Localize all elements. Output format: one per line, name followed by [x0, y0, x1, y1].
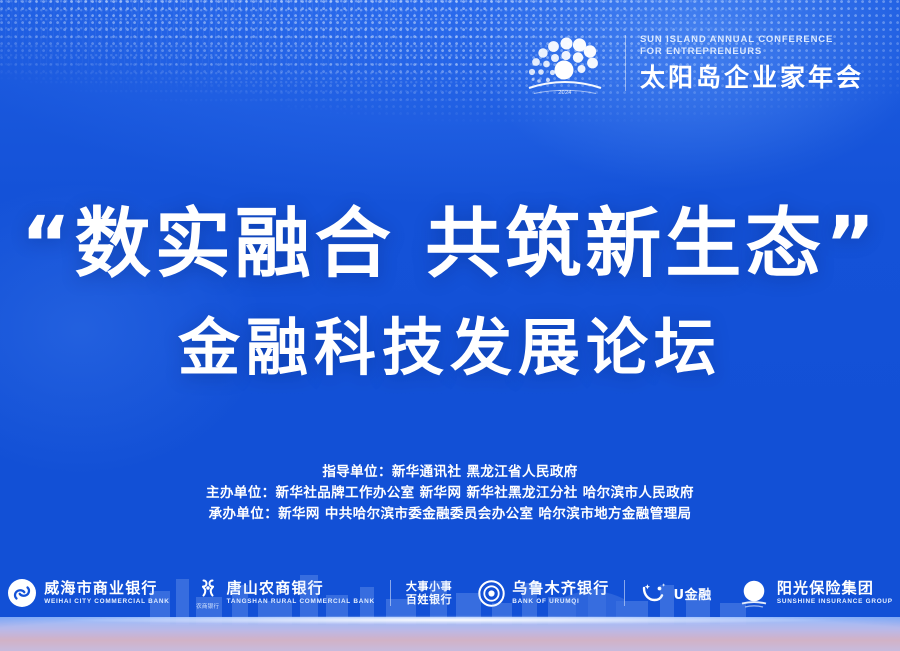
sunshine-sun-icon [738, 578, 770, 608]
tangshan-mark-label: 农商银行 [196, 602, 219, 610]
sponsor-divider [390, 580, 391, 606]
sponsor-divider [624, 580, 625, 606]
sponsor-name-cn: 威海市商业银行 [44, 581, 169, 596]
sponsor-tangshan-rural-commercial-bank: 农商银行 唐山农商银行 TANGSHAN RURAL COMMERCIAL BA… [196, 576, 453, 610]
sponsor-sunshine-insurance-group: 阳光保险集团 SUNSHINE INSURANCE GROUP [738, 578, 893, 608]
sponsor-name-en: WEIHAI CITY COMMERCIAL BANK [44, 599, 169, 605]
sponsor-name-cn: 乌鲁木齐银行 [512, 581, 609, 596]
conference-poster: 2024 SUN ISLAND ANNUAL CONFERENCE FOR EN… [0, 0, 900, 651]
bottom-glow-line [0, 615, 900, 625]
organizer-block: 指导单位：新华通讯社 黑龙江省人民政府 主办单位：新华社品牌工作办公室 新华网 … [0, 462, 900, 525]
sponsor-bank-of-urumqi: 乌鲁木齐银行 BANK OF URUMQI U金融 [478, 580, 712, 607]
sponsor-name-cn: 唐山农商银行 [227, 581, 375, 596]
conference-logo: 2024 SUN ISLAND ANNUAL CONFERENCE FOR EN… [519, 26, 864, 100]
sponsor-slogan-line-2: 百姓银行 [406, 593, 452, 606]
organizer-line-host: 主办单位：新华社品牌工作办公室 新华网 新华社黑龙江分社 哈尔滨市人民政府 [0, 483, 900, 504]
sun-island-dots-logo-icon: 2024 [519, 26, 611, 100]
u-smile-icon [640, 581, 666, 605]
sponsor-name-en: TANGSHAN RURAL COMMERCIAL BANK [227, 599, 375, 605]
conference-english-line-1: SUN ISLAND ANNUAL CONFERENCE [640, 34, 864, 47]
sponsor-strip: 威海市商业银行 WEIHAI CITY COMMERCIAL BANK 农商银行… [0, 568, 900, 618]
sponsor-name-en: BANK OF URUMQI [512, 599, 609, 605]
organizer-line-guidance: 指导单位：新华通讯社 黑龙江省人民政府 [0, 462, 900, 483]
urumqi-circle-icon [478, 580, 505, 607]
sponsor-sub-brand: U金融 [673, 584, 711, 603]
conference-chinese-title: 太阳岛企业家年会 [640, 63, 864, 93]
sponsor-slogan-line-1: 大事小事 [406, 580, 452, 593]
sponsor-weihai-city-commercial-bank: 威海市商业银行 WEIHAI CITY COMMERCIAL BANK [7, 578, 169, 608]
logo-year: 2024 [558, 90, 572, 96]
sponsor-name-cn: 阳光保险集团 [777, 581, 893, 596]
headline-block: “数实融合 共筑新生态” 金融科技发展论坛 [0, 196, 900, 388]
conference-english-line-2: FOR ENTREPRENEURS [640, 46, 864, 59]
page-title: “数实融合 共筑新生态” [0, 196, 900, 292]
tangshan-knot-icon [196, 576, 220, 600]
page-subtitle: 金融科技发展论坛 [0, 308, 900, 388]
sponsor-name-en: SUNSHINE INSURANCE GROUP [777, 599, 893, 605]
weihai-swirl-icon [7, 578, 37, 608]
logo-divider [625, 35, 626, 91]
organizer-line-undertaker: 承办单位：新华网 中共哈尔滨市委金融委员会办公室 哈尔滨市地方金融管理局 [0, 504, 900, 525]
